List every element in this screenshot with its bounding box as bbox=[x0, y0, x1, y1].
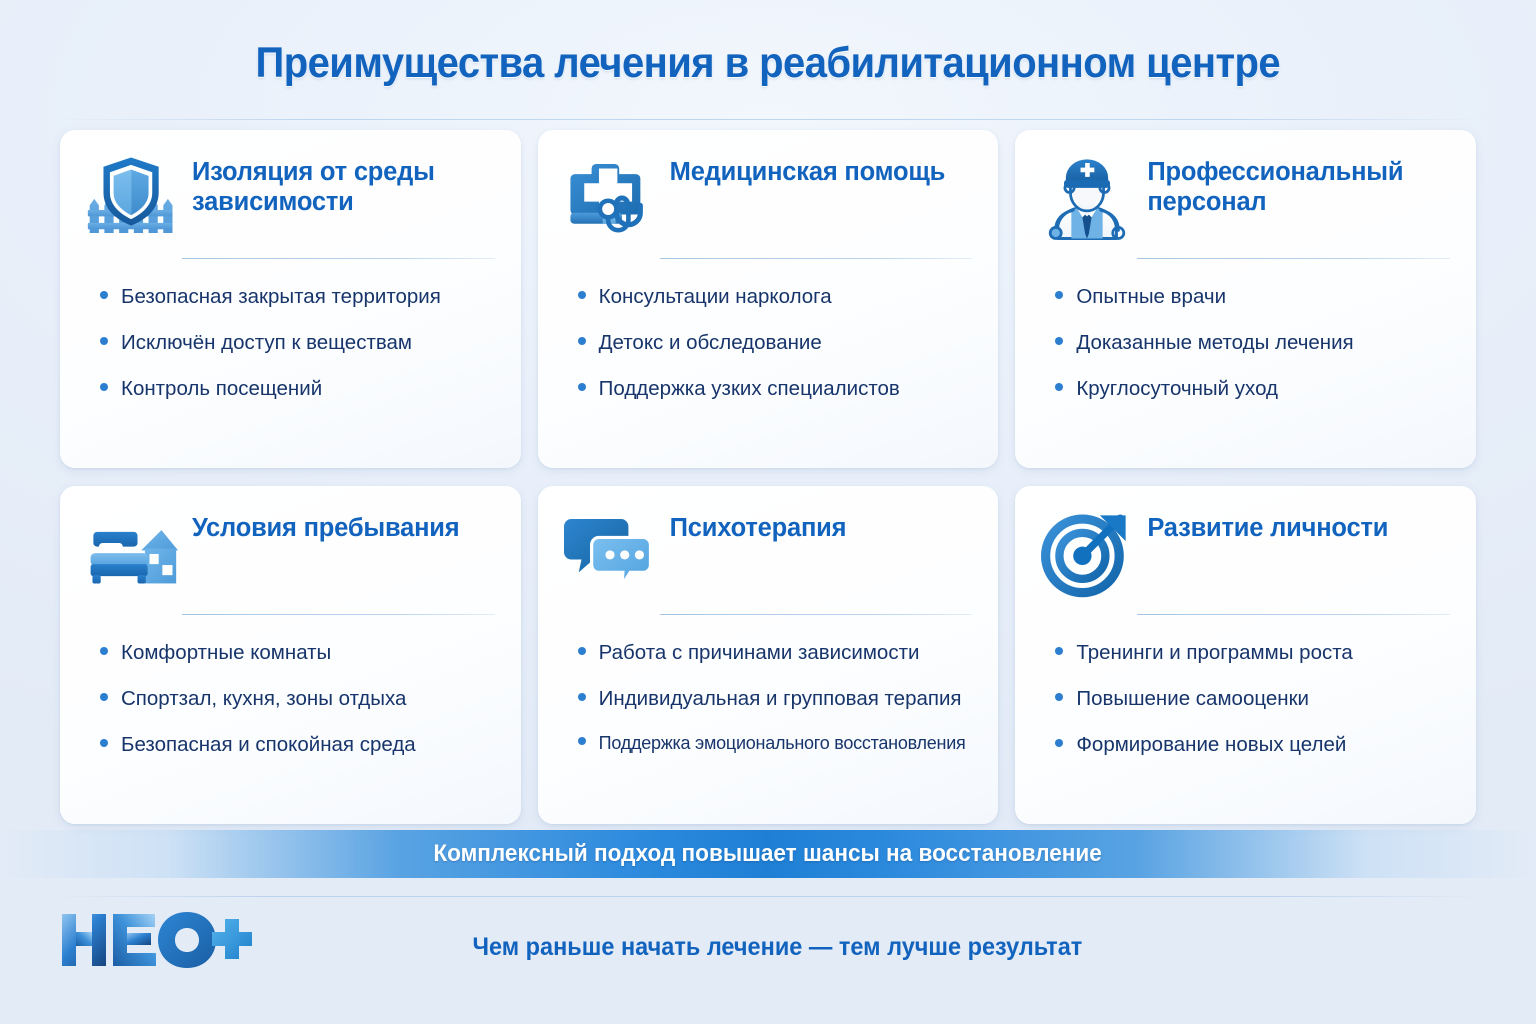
card-title: Развитие личности bbox=[1147, 508, 1388, 544]
list-item-label: Комфортные комнаты bbox=[121, 641, 331, 665]
summary-banner: Комплексный подход повышает шансы на вос… bbox=[0, 830, 1536, 878]
list-item: Тренинги и программы роста bbox=[1055, 641, 1450, 665]
bullet-dot-icon bbox=[1055, 739, 1063, 747]
list-item: Контроль посещений bbox=[100, 377, 495, 401]
bullet-dot-icon bbox=[578, 337, 586, 345]
list-item: Безопасная закрытая территория bbox=[100, 285, 495, 309]
card-header: Медицинская помощь bbox=[564, 152, 973, 248]
list-item-label: Исключён доступ к веществам bbox=[121, 331, 412, 355]
footer-row: Чем раньше начать лечение — тем лучше ре… bbox=[0, 902, 1536, 992]
bullet-dot-icon bbox=[100, 739, 108, 747]
doctor-icon bbox=[1041, 152, 1133, 244]
card-bullet-list: Работа с причинами зависимости Индивидуа… bbox=[564, 615, 973, 755]
bullet-dot-icon bbox=[1055, 693, 1063, 701]
benefits-grid: Изоляция от среды зависимости Безопасная… bbox=[0, 126, 1536, 824]
list-item: Поддержка эмоционального восстановления bbox=[578, 733, 973, 754]
medical-bag-stethoscope-icon bbox=[564, 152, 656, 244]
list-item: Формирование новых целей bbox=[1055, 733, 1450, 757]
card-header: Профессиональный персонал bbox=[1041, 152, 1450, 248]
card-title: Условия пребывания bbox=[192, 508, 459, 544]
card-header: Развитие личности bbox=[1041, 508, 1450, 604]
bullet-dot-icon bbox=[578, 291, 586, 299]
list-item-label: Доказанные методы лечения bbox=[1076, 331, 1353, 355]
list-item-label: Круглосуточный уход bbox=[1076, 377, 1278, 401]
infographic-page: Преимущества лечения в реабилитационном … bbox=[0, 0, 1536, 1024]
speech-bubbles-icon bbox=[564, 508, 656, 600]
bullet-dot-icon bbox=[578, 737, 586, 745]
list-item-label: Безопасная закрытая территория bbox=[121, 285, 441, 309]
list-item-label: Спортзал, кухня, зоны отдыха bbox=[121, 687, 406, 711]
benefit-card-accommodation[interactable]: Условия пребывания Комфортные комнаты Сп… bbox=[60, 486, 521, 824]
card-title: Профессиональный персонал bbox=[1147, 152, 1450, 218]
bullet-dot-icon bbox=[578, 383, 586, 391]
target-arrow-icon bbox=[1041, 508, 1133, 600]
list-item-label: Повышение самооценки bbox=[1076, 687, 1309, 711]
bullet-dot-icon bbox=[578, 647, 586, 655]
card-title: Психотерапия bbox=[670, 508, 847, 544]
list-item-label: Тренинги и программы роста bbox=[1076, 641, 1352, 665]
list-item-label: Консультации нарколога bbox=[599, 285, 832, 309]
bed-house-icon bbox=[86, 508, 178, 600]
footer-tagline: Чем раньше начать лечение — тем лучше ре… bbox=[46, 933, 1490, 962]
card-header: Условия пребывания bbox=[86, 508, 495, 604]
bullet-dot-icon bbox=[1055, 383, 1063, 391]
list-item-label: Формирование новых целей bbox=[1076, 733, 1346, 757]
list-item-label: Работа с причинами зависимости bbox=[599, 641, 920, 665]
benefit-card-medical-help[interactable]: Медицинская помощь Консультации нарколог… bbox=[538, 130, 999, 468]
list-item: Опытные врачи bbox=[1055, 285, 1450, 309]
list-item: Повышение самооценки bbox=[1055, 687, 1450, 711]
shield-fence-icon bbox=[86, 152, 178, 244]
bullet-dot-icon bbox=[100, 337, 108, 345]
benefit-card-personal-growth[interactable]: Развитие личности Тренинги и программы р… bbox=[1015, 486, 1476, 824]
list-item-label: Контроль посещений bbox=[121, 377, 322, 401]
list-item: Поддержка узких специалистов bbox=[578, 377, 973, 401]
list-item: Спортзал, кухня, зоны отдыха bbox=[100, 687, 495, 711]
list-item-label: Детокс и обследование bbox=[599, 331, 822, 355]
summary-banner-text: Комплексный подход повышает шансы на вос… bbox=[434, 840, 1103, 868]
bullet-dot-icon bbox=[578, 693, 586, 701]
bullet-dot-icon bbox=[100, 693, 108, 701]
card-bullet-list: Безопасная закрытая территория Исключён … bbox=[86, 259, 495, 402]
list-item-label: Опытные врачи bbox=[1076, 285, 1226, 309]
list-item: Индивидуальная и групповая терапия bbox=[578, 687, 973, 711]
bullet-dot-icon bbox=[100, 647, 108, 655]
list-item-label: Индивидуальная и групповая терапия bbox=[599, 687, 962, 711]
list-item: Доказанные методы лечения bbox=[1055, 331, 1450, 355]
benefit-card-psychotherapy[interactable]: Психотерапия Работа с причинами зависимо… bbox=[538, 486, 999, 824]
list-item: Круглосуточный уход bbox=[1055, 377, 1450, 401]
card-bullet-list: Опытные врачи Доказанные методы лечения … bbox=[1041, 259, 1450, 402]
card-header: Изоляция от среды зависимости bbox=[86, 152, 495, 248]
card-bullet-list: Тренинги и программы роста Повышение сам… bbox=[1041, 615, 1450, 758]
bullet-dot-icon bbox=[1055, 291, 1063, 299]
benefit-card-isolation[interactable]: Изоляция от среды зависимости Безопасная… bbox=[60, 130, 521, 468]
list-item-label: Безопасная и спокойная среда bbox=[121, 733, 416, 757]
bullet-dot-icon bbox=[1055, 647, 1063, 655]
benefit-card-professional-staff[interactable]: Профессиональный персонал Опытные врачи … bbox=[1015, 130, 1476, 468]
page-title: Преимущества лечения в реабилитационном … bbox=[256, 39, 1281, 88]
list-item: Безопасная и спокойная среда bbox=[100, 733, 495, 757]
list-item-label: Поддержка узких специалистов bbox=[599, 377, 900, 401]
list-item: Исключён доступ к веществам bbox=[100, 331, 495, 355]
card-bullet-list: Консультации нарколога Детокс и обследов… bbox=[564, 259, 973, 402]
card-title: Изоляция от среды зависимости bbox=[192, 152, 495, 218]
card-title: Медицинская помощь bbox=[670, 152, 945, 188]
header: Преимущества лечения в реабилитационном … bbox=[0, 0, 1536, 126]
list-item-label: Поддержка эмоционального восстановления bbox=[599, 733, 966, 754]
card-header: Психотерапия bbox=[564, 508, 973, 604]
list-item: Работа с причинами зависимости bbox=[578, 641, 973, 665]
footer: Комплексный подход повышает шансы на вос… bbox=[0, 824, 1536, 1024]
card-bullet-list: Комфортные комнаты Спортзал, кухня, зоны… bbox=[86, 615, 495, 758]
bullet-dot-icon bbox=[1055, 337, 1063, 345]
footer-divider bbox=[52, 896, 1484, 897]
list-item: Консультации нарколога bbox=[578, 285, 973, 309]
bullet-dot-icon bbox=[100, 291, 108, 299]
list-item: Комфортные комнаты bbox=[100, 641, 495, 665]
bullet-dot-icon bbox=[100, 383, 108, 391]
list-item: Детокс и обследование bbox=[578, 331, 973, 355]
